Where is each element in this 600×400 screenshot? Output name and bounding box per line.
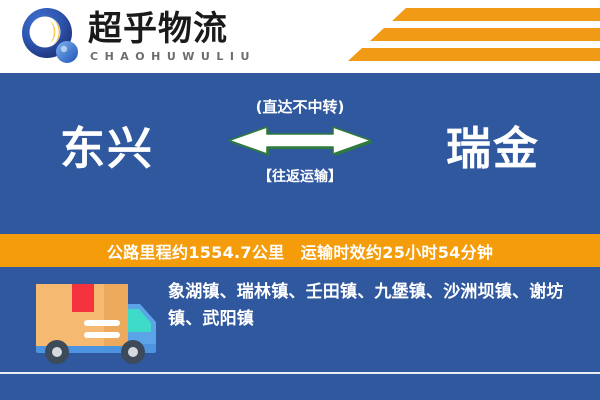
- direct-route-tag: (直达不中转): [225, 97, 375, 117]
- delivery-truck-icon: [28, 278, 162, 370]
- covered-towns-list: 象湖镇、瑞林镇、壬田镇、九堡镇、沙洲坝镇、谢坊镇、武阳镇: [168, 279, 580, 333]
- logistics-route-banner: 超乎物流 CHAOHUWULIU 东兴 瑞金 (直达不中转) 【: [0, 0, 600, 400]
- brand-name-en: CHAOHUWULIU: [90, 50, 256, 64]
- origin-city: 东兴: [60, 121, 154, 177]
- bidirectional-arrow-icon: [225, 121, 375, 163]
- info-bar: 公路里程约1554.7公里 运输时效约25小时54分钟: [0, 234, 600, 267]
- coverage-section: 象湖镇、瑞林镇、壬田镇、九堡镇、沙洲坝镇、谢坊镇、武阳镇: [0, 267, 600, 400]
- stripe-2: [370, 28, 600, 41]
- bottom-divider: [0, 372, 600, 374]
- route-middle: (直达不中转) 【往返运输】: [225, 97, 375, 217]
- roundtrip-tag: 【往返运输】: [225, 167, 375, 187]
- brand-name-cn: 超乎物流: [88, 10, 256, 48]
- orange-stripes-icon: [348, 8, 600, 66]
- brand-logo[interactable]: 超乎物流 CHAOHUWULIU: [20, 6, 256, 68]
- header: 超乎物流 CHAOHUWULIU: [0, 0, 600, 73]
- destination-city: 瑞金: [446, 121, 540, 177]
- circle-crescent-logo-icon: [20, 6, 82, 68]
- stripe-3: [348, 48, 600, 61]
- route-section: 东兴 瑞金 (直达不中转) 【往返运输】: [0, 73, 600, 234]
- distance-duration-text: 公路里程约1554.7公里 运输时效约25小时54分钟: [107, 239, 493, 263]
- stripe-1: [392, 8, 600, 21]
- brand-text: 超乎物流 CHAOHUWULIU: [88, 10, 256, 64]
